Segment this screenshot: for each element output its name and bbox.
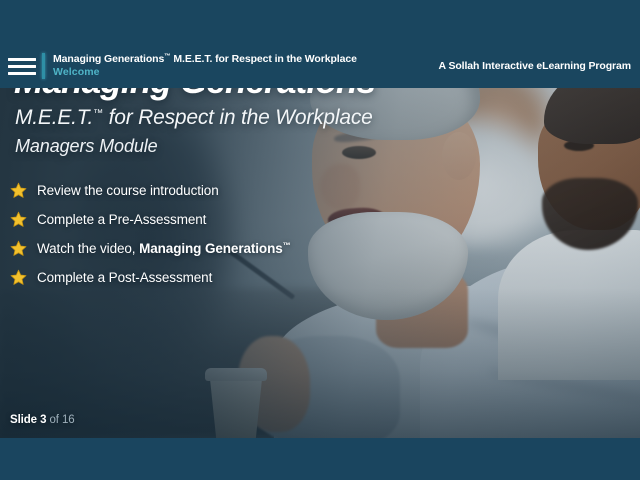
header-course-title: Managing Generations™ M.E.E.T. for Respe…	[53, 53, 357, 66]
list-item-text: Watch the video,	[37, 241, 139, 256]
slide-subtitle-tm-icon: ™	[93, 108, 103, 119]
slide-text-content: Managing Generations™ M.E.E.T.™ for Resp…	[0, 44, 640, 438]
header-title-group: Managing Generations™ M.E.E.T. for Respe…	[53, 53, 357, 79]
header-program-label: A Sollah Interactive eLearning Program	[439, 60, 640, 72]
header-course-title-main: Managing Generations	[53, 53, 164, 65]
hamburger-bar-2	[8, 65, 36, 68]
hamburger-bar-1	[8, 58, 36, 61]
header-content: Managing Generations™ M.E.E.T. for Respe…	[0, 44, 640, 88]
slide-counter: Slide 3 of 16	[10, 414, 75, 426]
star-icon	[10, 240, 27, 257]
hamburger-bar-3	[8, 72, 36, 75]
star-icon	[10, 269, 27, 286]
slide-counter-total: of 16	[46, 414, 74, 426]
list-item-label: Complete a Post-Assessment	[37, 270, 212, 285]
bottom-toolbar	[0, 438, 640, 480]
list-item-label: Watch the video, Managing Generations™	[37, 241, 291, 256]
slide-subtitle-rest: for Respect in the Workplace	[103, 106, 373, 129]
list-item-text: Complete a Pre-Assessment	[37, 212, 206, 227]
slide-subtitle: M.E.E.T.™ for Respect in the Workplace	[15, 106, 373, 130]
header-course-title-rest: M.E.E.T. for Respect in the Workplace	[171, 53, 357, 65]
hamburger-menu-icon[interactable]	[0, 44, 40, 88]
list-item: Watch the video, Managing Generations™	[10, 240, 291, 257]
elearning-slide-viewer: Managing Generations™ M.E.E.T. for Respe…	[0, 0, 640, 480]
list-item-label: Review the course introduction	[37, 183, 219, 198]
list-item: Complete a Post-Assessment	[10, 269, 291, 286]
top-header-bar: Managing Generations™ M.E.E.T. for Respe…	[0, 0, 640, 88]
slide-counter-current: Slide 3	[10, 414, 46, 426]
slide-module-label: Managers Module	[15, 136, 158, 157]
list-item-tm-icon: ™	[283, 241, 291, 250]
list-item-bold: Managing Generations	[139, 241, 283, 256]
list-item: Review the course introduction	[10, 182, 291, 199]
objectives-list: Review the course introduction Complete …	[10, 182, 291, 286]
star-icon	[10, 182, 27, 199]
slide-subtitle-main: M.E.E.T.	[15, 106, 93, 129]
list-item-label: Complete a Pre-Assessment	[37, 212, 206, 227]
list-item-text: Complete a Post-Assessment	[37, 270, 212, 285]
list-item: Complete a Pre-Assessment	[10, 211, 291, 228]
header-section-label: Welcome	[53, 67, 357, 79]
slide-photo-stage: Managing Generations™ M.E.E.T.™ for Resp…	[0, 44, 640, 438]
star-icon	[10, 211, 27, 228]
header-divider	[42, 53, 45, 79]
list-item-text: Review the course introduction	[37, 183, 219, 198]
